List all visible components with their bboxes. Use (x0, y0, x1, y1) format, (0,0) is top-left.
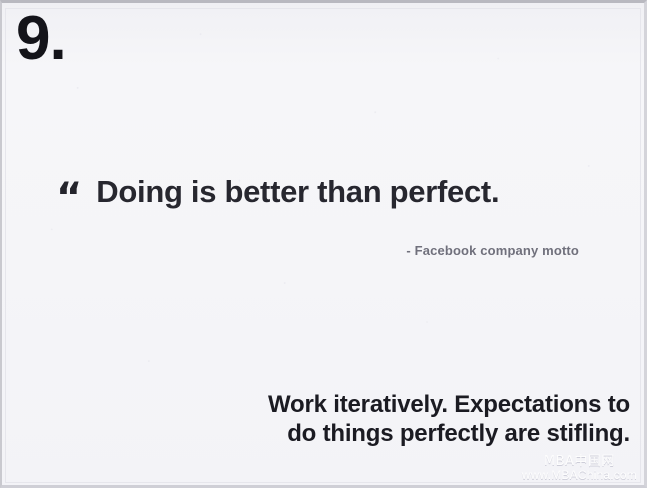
quote-block: “ Doing is better than perfect. (56, 176, 499, 218)
watermark-brand: MBA中国网 (522, 455, 637, 469)
quote-slide: 9. “ Doing is better than perfect. - Fac… (0, 0, 647, 488)
statement-line-2: do things perfectly are stifling. (0, 419, 630, 448)
quote-text: Doing is better than perfect. (96, 176, 499, 207)
slide-number: 9. (16, 8, 66, 70)
open-quote-icon: “ (56, 178, 82, 218)
watermark-url: www.MBAChina.com (522, 469, 637, 482)
statement-block: Work iteratively. Expectations to do thi… (0, 390, 630, 448)
watermark: MBA中国网 www.MBAChina.com (522, 455, 637, 482)
quote-attribution: - Facebook company motto (0, 243, 579, 258)
statement-line-1: Work iteratively. Expectations to (0, 390, 630, 419)
